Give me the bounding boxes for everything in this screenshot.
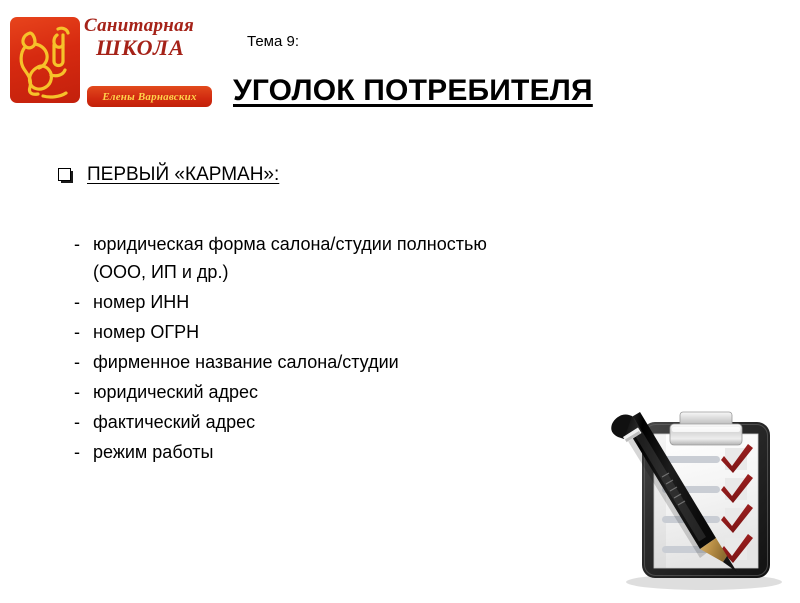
list-item: - юридический адрес <box>74 378 714 406</box>
brand-logo: Санитарная ШКОЛА Елены Варнавских <box>8 14 213 106</box>
section-heading-label: ПЕРВЫЙ «КАРМАН»: <box>87 163 279 187</box>
sanitary-figure-icon <box>10 17 80 103</box>
list-item-label: номер ОГРН <box>93 318 199 346</box>
list-item: - номер ОГРН <box>74 318 714 346</box>
logo-brand-line-1: Санитарная <box>84 16 212 36</box>
logo-banner: Елены Варнавских <box>87 86 212 107</box>
list-item-label: фактический адрес <box>93 408 255 436</box>
topic-label: Тема 9: <box>247 33 299 51</box>
slide-canvas: Санитарная ШКОЛА Елены Варнавских Тема 9… <box>0 0 800 600</box>
dash-marker: - <box>74 318 93 346</box>
section-heading: ПЕРВЫЙ «КАРМАН»: <box>58 163 279 187</box>
list-item-label: номер ИНН <box>93 288 189 316</box>
list-item: - номер ИНН <box>74 288 714 316</box>
dash-marker: - <box>74 378 93 406</box>
logo-emblem <box>10 17 80 103</box>
dash-marker: - <box>74 438 93 466</box>
square-bullet-icon <box>58 168 73 183</box>
dash-marker: - <box>74 408 93 436</box>
logo-brand-line-2: ШКОЛА <box>96 36 216 60</box>
list-item-label: юридический адрес <box>93 378 258 406</box>
list-item: - фирменное название салона/студии <box>74 348 714 376</box>
page-title: УГОЛОК ПОТРЕБИТЕЛЯ <box>233 74 593 108</box>
dash-marker: - <box>74 288 93 316</box>
dash-marker: - <box>74 348 93 376</box>
list-item-label: фирменное название салона/студии <box>93 348 399 376</box>
list-item-label: юридическая форма салона/студии полность… <box>93 230 487 286</box>
list-item-label: режим работы <box>93 438 213 466</box>
logo-banner-text: Елены Варнавских <box>102 91 196 103</box>
clipboard-with-pencil-icon <box>596 404 796 598</box>
dash-marker: - <box>74 230 93 258</box>
list-item: - юридическая форма салона/студии полнос… <box>74 230 714 286</box>
